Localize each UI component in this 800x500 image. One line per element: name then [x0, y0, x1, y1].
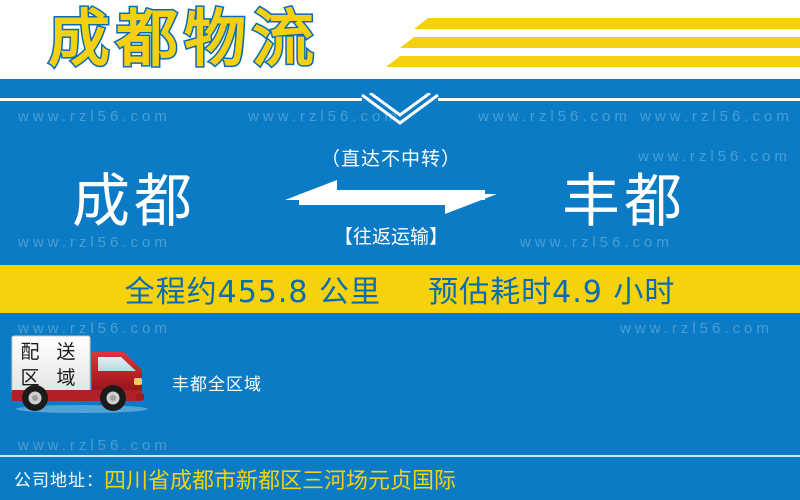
- logistics-banner: 成都物流 www.rzl56.comwww.rzl56.comwww.rzl56…: [0, 0, 800, 500]
- watermark-text: www.rzl56.com: [640, 108, 793, 125]
- stripe-1: [414, 18, 800, 29]
- duration-text: 预估耗时4.9 小时: [428, 275, 675, 310]
- page-title: 成都物流: [48, 2, 320, 76]
- stripe-2: [400, 37, 800, 48]
- delivery-truck-icon: 配 送 区 域: [8, 332, 156, 414]
- banner-header: 成都物流: [0, 0, 800, 79]
- watermark-text: www.rzl56.com: [478, 108, 631, 125]
- address-label: 公司地址：: [14, 466, 104, 491]
- stats-text: 全程约455.8 公里 预估耗时4.9 小时: [125, 267, 676, 311]
- distance-text: 全程约455.8 公里: [125, 275, 381, 310]
- truck-box-char-2: 送: [56, 341, 75, 363]
- chevron-down-icon: [360, 93, 440, 127]
- footer-bar: 公司地址： 四川省成都市新都区三河场元贞国际: [0, 457, 800, 500]
- round-trip-note: 【往返运输】: [291, 222, 491, 249]
- destination-city: 丰都: [562, 170, 686, 232]
- stats-bar: 全程约455.8 公里 预估耗时4.9 小时: [0, 265, 800, 313]
- watermark-text: www.rzl56.com: [520, 234, 673, 251]
- watermark-text: www.rzl56.com: [620, 320, 773, 337]
- watermark-text: www.rzl56.com: [638, 148, 791, 165]
- truck-box-char-1: 配: [20, 341, 39, 363]
- diagonal-stripes-decoration: [380, 0, 800, 79]
- coverage-area-text: 丰都全区域: [172, 370, 262, 395]
- origin-city: 成都: [72, 170, 196, 232]
- watermark-text: www.rzl56.com: [18, 234, 171, 251]
- watermark-text: www.rzl56.com: [18, 108, 171, 125]
- company-address: 四川省成都市新都区三河场元贞国际: [104, 463, 456, 495]
- truck-box-char-4: 域: [56, 367, 75, 389]
- bidirectional-arrow-icon: [285, 176, 497, 218]
- truck-box-char-3: 区: [20, 367, 39, 389]
- direct-route-note: （直达不中转）: [291, 144, 491, 171]
- watermark-text: www.rzl56.com: [18, 437, 171, 454]
- stripe-3: [386, 56, 800, 67]
